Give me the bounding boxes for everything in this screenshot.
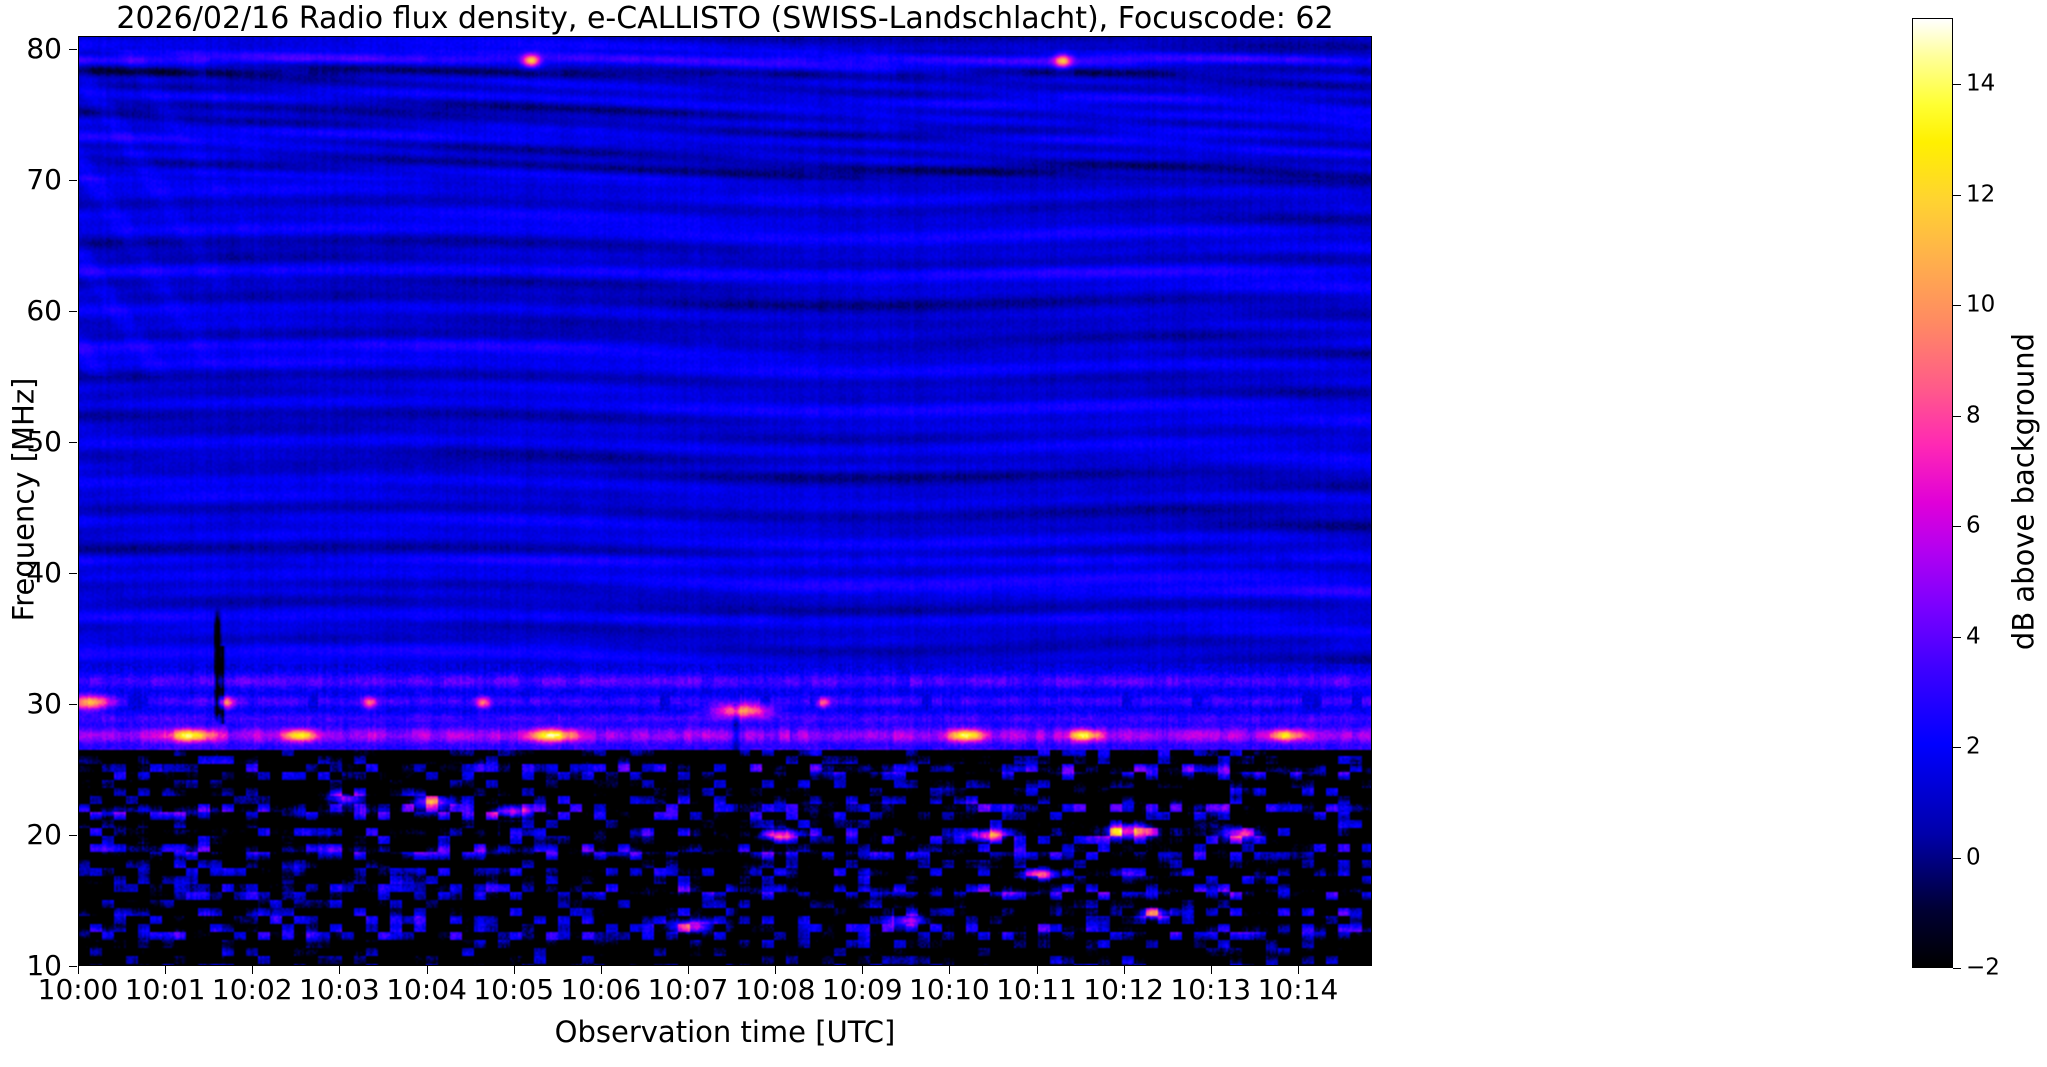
y-tick-mark bbox=[69, 573, 77, 574]
x-tick-label: 10:14 bbox=[1258, 976, 1339, 1004]
colorbar-label: dB above background bbox=[2010, 17, 2039, 967]
colorbar-tick-label: 6 bbox=[1966, 515, 1981, 538]
colorbar-tick-label: 4 bbox=[1966, 625, 1981, 648]
x-tick-label: 10:08 bbox=[735, 976, 816, 1004]
y-tick-mark bbox=[69, 835, 77, 836]
colorbar-tick-mark bbox=[1953, 747, 1961, 748]
x-tick-label: 10:12 bbox=[1083, 976, 1164, 1004]
x-tick-label: 10:05 bbox=[473, 976, 554, 1004]
y-tick-mark bbox=[69, 704, 77, 705]
colorbar-tick-mark bbox=[1953, 416, 1961, 417]
colorbar-tick-label: 10 bbox=[1966, 294, 1995, 317]
x-tick-label: 10:02 bbox=[212, 976, 293, 1004]
colorbar-tick-mark bbox=[1953, 526, 1961, 527]
x-tick-label: 10:07 bbox=[648, 976, 729, 1004]
colorbar-tick-mark bbox=[1953, 968, 1961, 969]
colorbar-tick-mark bbox=[1953, 637, 1961, 638]
x-tick-label: 10:11 bbox=[996, 976, 1077, 1004]
colorbar-tick-label: 8 bbox=[1966, 404, 1981, 427]
y-tick-mark bbox=[69, 311, 77, 312]
x-axis-label: Observation time [UTC] bbox=[78, 1016, 1372, 1048]
colorbar-tick-mark bbox=[1953, 858, 1961, 859]
colorbar-tick-label: 14 bbox=[1966, 73, 1995, 96]
colorbar-tick-mark bbox=[1953, 84, 1961, 85]
spectrogram-figure: 2026/02/16 Radio flux density, e-CALLIST… bbox=[0, 0, 2047, 1067]
x-tick-label: 10:00 bbox=[38, 976, 119, 1004]
x-tick-label: 10:13 bbox=[1170, 976, 1251, 1004]
x-tick-label: 10:06 bbox=[560, 976, 641, 1004]
colorbar-tick-mark bbox=[1953, 305, 1961, 306]
x-tick-label: 10:04 bbox=[386, 976, 467, 1004]
y-tick-mark bbox=[69, 180, 77, 181]
y-tick-mark bbox=[69, 442, 77, 443]
x-tick-label: 10:10 bbox=[909, 976, 990, 1004]
colorbar-gradient bbox=[1912, 18, 1953, 968]
page-title: 2026/02/16 Radio flux density, e-CALLIST… bbox=[78, 2, 1372, 36]
colorbar-tick-label: 2 bbox=[1966, 736, 1981, 759]
y-axis-label: Frequency [MHz] bbox=[10, 35, 39, 965]
colorbar-tick-mark bbox=[1953, 195, 1961, 196]
colorbar[interactable]: −202468101214 bbox=[1912, 18, 1953, 968]
y-tick-mark bbox=[69, 966, 77, 967]
y-tick-mark bbox=[69, 49, 77, 50]
colorbar-tick-label: 0 bbox=[1966, 846, 1981, 869]
spectrogram-plot-area[interactable] bbox=[78, 36, 1372, 966]
colorbar-tick-label: 12 bbox=[1966, 183, 1995, 206]
x-tick-label: 10:03 bbox=[299, 976, 380, 1004]
spectrogram-image bbox=[78, 36, 1372, 966]
colorbar-tick-label: −2 bbox=[1966, 957, 2000, 980]
x-tick-label: 10:01 bbox=[125, 976, 206, 1004]
x-tick-label: 10:09 bbox=[822, 976, 903, 1004]
